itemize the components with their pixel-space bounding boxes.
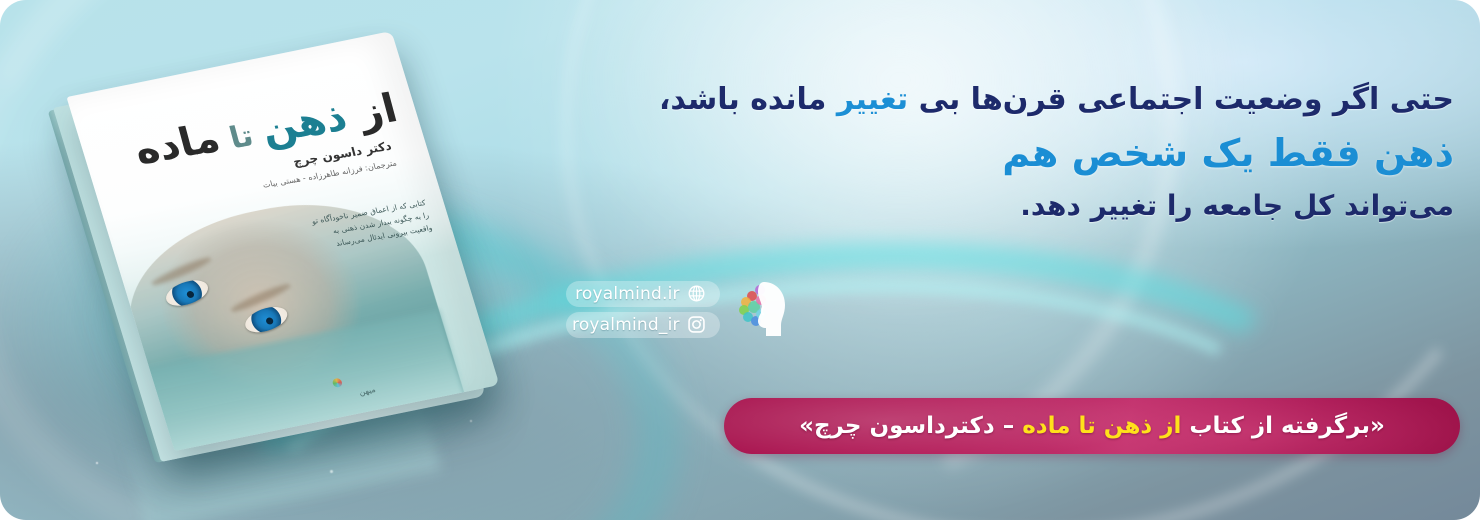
handle-instagram-text: royalmind_ir	[572, 315, 680, 335]
headline-line1-part2: مانده باشد،	[659, 82, 837, 117]
brand-block: royalmind.ir royalmind_ir	[566, 276, 798, 342]
social-handles: royalmind.ir royalmind_ir	[566, 281, 720, 338]
instagram-icon	[687, 315, 706, 334]
headline-block: حتی اگر وضعیت اجتماعی قرن‌ها بی تغییر ما…	[524, 80, 1454, 227]
headline-line1-part1: حتی اگر وضعیت اجتماعی قرن‌ها بی	[908, 82, 1454, 117]
source-badge[interactable]: «برگرفته از کتاب از ذهن تا ماده – دکتردا…	[724, 398, 1460, 454]
book-image: از ذهن تا ماده از ذهن تا ماده دکتر داسون…	[60, 38, 580, 458]
handle-website-text: royalmind.ir	[575, 284, 680, 304]
cover-title-mind: ذهن	[256, 94, 352, 152]
handle-instagram[interactable]: royalmind_ir	[566, 312, 720, 338]
headline-line-2: ذهن فقط یک شخص هم	[524, 121, 1454, 186]
headline-line-1: حتی اگر وضعیت اجتماعی قرن‌ها بی تغییر ما…	[524, 80, 1454, 121]
headline-line1-accent: تغییر	[837, 82, 908, 117]
cover-title-from: از	[340, 86, 402, 139]
badge-highlight: از ذهن تا ماده	[1022, 413, 1181, 439]
sparkle-dot	[96, 462, 98, 464]
handle-website[interactable]: royalmind.ir	[566, 281, 720, 307]
book-3d: از ذهن تا ماده از ذهن تا ماده دکتر داسون…	[66, 31, 499, 451]
promo-banner: از ذهن تا ماده از ذهن تا ماده دکتر داسون…	[0, 0, 1480, 520]
royal-mind-head-logo-icon	[730, 276, 798, 342]
cover-title-matter: ماده	[129, 115, 224, 173]
source-badge-text: «برگرفته از کتاب از ذهن تا ماده – دکتردا…	[799, 413, 1385, 439]
headline-line-3: می‌تواند کل جامعه را تغییر دهد.	[524, 185, 1454, 227]
cover-title: از ذهن تا ماده	[130, 89, 401, 171]
globe-icon	[687, 284, 706, 303]
badge-suffix: – دکترداسون چرچ»	[799, 413, 1022, 439]
cover-translator: مترجمان: فرزانه طاهرزاده - هستی بیات	[261, 159, 397, 190]
badge-prefix: «برگرفته از کتاب	[1181, 413, 1385, 439]
